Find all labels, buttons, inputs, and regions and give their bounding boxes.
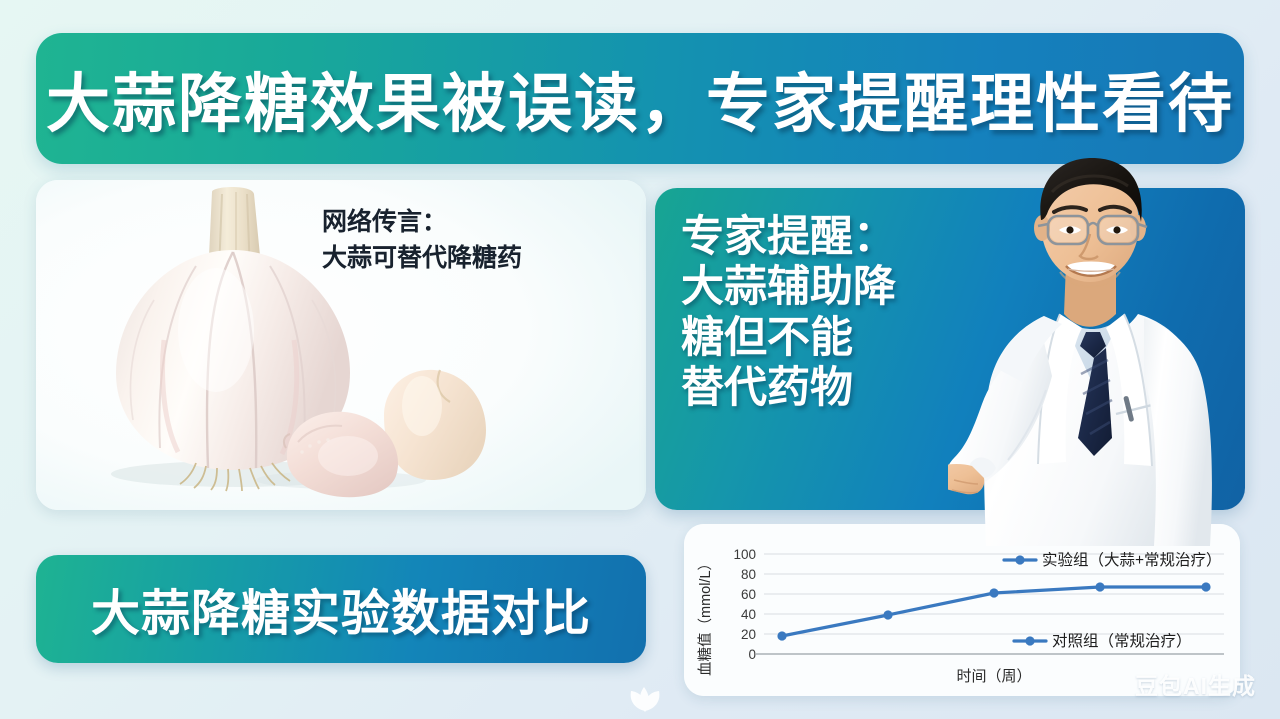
svg-text:60: 60 bbox=[741, 587, 756, 602]
chart-data-point bbox=[1095, 582, 1104, 591]
data-comparison-banner: 大蒜降糖实验数据对比 bbox=[36, 555, 646, 663]
ai-watermark: 豆包AI生成 bbox=[1135, 667, 1256, 701]
leaf-decoration-icon bbox=[617, 679, 673, 713]
svg-text:100: 100 bbox=[733, 547, 756, 562]
rumor-text-block: 网络传言： 大蒜可替代降糖药 bbox=[322, 204, 622, 277]
chart-x-axis-label: 时间（周） bbox=[956, 668, 1031, 685]
rumor-line-2: 大蒜可替代降糖药 bbox=[322, 240, 622, 276]
chart-data-point bbox=[1201, 582, 1210, 591]
page-title: 大蒜降糖效果被误读，专家提醒理性看待 bbox=[46, 53, 1234, 145]
svg-text:80: 80 bbox=[741, 567, 756, 582]
chart-data-point bbox=[883, 610, 892, 619]
chart-legend-label-control: 对照组（常规治疗） bbox=[1052, 632, 1192, 650]
rumor-line-1: 网络传言： bbox=[322, 204, 622, 240]
doctor-figure-image bbox=[948, 146, 1278, 546]
svg-text:20: 20 bbox=[741, 627, 756, 642]
garlic-rumor-card: 网络传言： 大蒜可替代降糖药 bbox=[36, 180, 646, 510]
chart-y-axis-label: 血糖值（mmol/L） bbox=[697, 556, 714, 676]
chart-data-point bbox=[777, 631, 786, 640]
header-banner: 大蒜降糖效果被误读，专家提醒理性看待 bbox=[36, 33, 1244, 164]
data-banner-title: 大蒜降糖实验数据对比 bbox=[91, 574, 591, 645]
svg-text:40: 40 bbox=[741, 607, 756, 622]
svg-text:0: 0 bbox=[748, 647, 756, 662]
infographic-stage: 大蒜降糖效果被误读，专家提醒理性看待 bbox=[0, 0, 1280, 719]
chart-legend-label-experimental: 实验组（大蒜+常规治疗） bbox=[1042, 551, 1222, 569]
chart-data-point bbox=[989, 588, 998, 597]
